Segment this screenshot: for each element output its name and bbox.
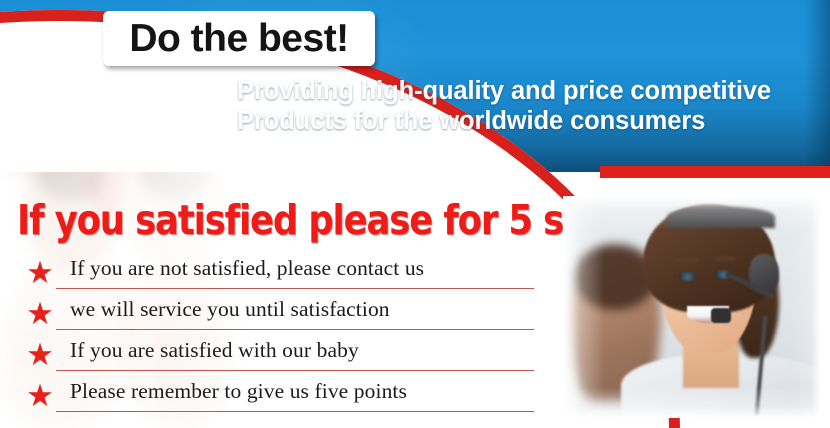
page-title: If you satisfied please for 5 stars! [17,196,653,244]
call-center-operator-photo [563,196,821,418]
star-icon: ★ [26,341,54,369]
promo-banner: Do the best! Providing high-quality and … [0,0,830,428]
list-item-label: Please remember to give us five points [70,379,407,404]
photo-edge-fade [563,196,821,418]
subtitle-line-1: Providing high-quality and price competi… [237,76,817,106]
list-item: ★ If you are not satisfied, please conta… [26,254,526,295]
list-item-underline [56,370,534,371]
do-the-best-plaque: Do the best! [103,11,375,66]
list-item: ★ Please remember to give us five points [26,377,526,418]
star-icon: ★ [26,300,54,328]
star-icon: ★ [26,382,54,410]
list-item-underline [56,329,534,330]
plaque-label: Do the best! [103,11,375,66]
list-item-label: we will service you until satisfaction [70,297,390,322]
list-item: ★ we will service you until satisfaction [26,295,526,336]
guarantee-list: ★ If you are not satisfied, please conta… [26,254,526,418]
list-item-underline [56,411,534,412]
list-item-underline [56,288,534,289]
list-item-label: If you are not satisfied, please contact… [70,256,424,281]
subtitle-block: Providing high-quality and price competi… [237,76,817,136]
list-item: ★ If you are satisfied with our baby [26,336,526,377]
star-icon: ★ [26,259,54,287]
red-horizontal-bar [600,166,830,178]
list-item-label: If you are satisfied with our baby [70,338,359,363]
subtitle-line-2: Products for the worldwide consumers [237,106,817,136]
